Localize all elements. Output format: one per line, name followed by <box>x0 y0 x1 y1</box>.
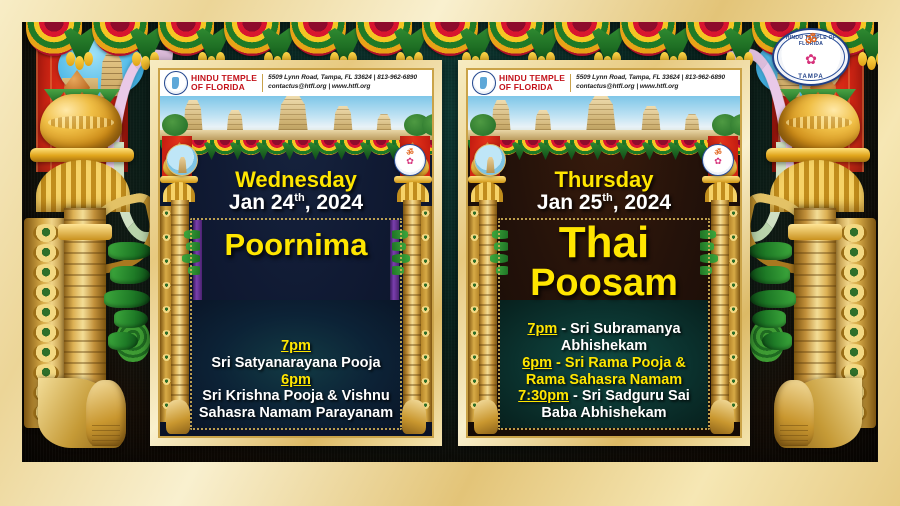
seal-city-text: TAMPA <box>774 74 848 80</box>
festival-name: Poornima <box>225 230 368 260</box>
schedule-text: Abhishekam <box>561 338 647 354</box>
card-text-block: Thursday Jan 25th, 2024 ThaiPoosam 7pm -… <box>468 164 740 436</box>
festival-name: ThaiPoosam <box>530 222 678 301</box>
schedule-row: 6pm <box>194 372 398 389</box>
card-inner: HINDU TEMPLE OF FLORIDA 5509 Lynn Road, … <box>158 68 434 438</box>
schedule-text: Baba Abhishekam <box>541 405 666 421</box>
letterhead-name-line2: OF FLORIDA <box>191 83 257 92</box>
card-text-block: Wednesday Jan 24th, 2024 Poornima 7pmSri… <box>160 164 432 436</box>
schedule-row: Sri Krishna Pooja & Vishnu <box>194 388 398 405</box>
schedule-row: Sri Satyanarayana Pooja <box>194 355 398 372</box>
festival-line1: Poornima <box>225 227 368 262</box>
schedule-text: Sri Sadguru Sai <box>582 388 690 404</box>
letterhead-email-website: contactus@htfl.org | www.htfl.org <box>268 83 417 92</box>
schedule-row: 7:30pm - Sri Sadguru Sai <box>502 388 706 405</box>
schedule-time: 7pm <box>281 338 311 354</box>
card-letterhead: HINDU TEMPLE OF FLORIDA 5509 Lynn Road, … <box>468 70 740 96</box>
date-ordinal-suffix: th <box>602 192 612 204</box>
schedule-row: 6pm - Sri Rama Pooja & <box>502 355 706 372</box>
letterhead-temple-name: HINDU TEMPLE OF FLORIDA <box>191 74 257 91</box>
lotus-icon: ✿ <box>805 52 817 66</box>
om-icon: ॐ <box>805 33 817 46</box>
letterhead-name-line2: OF FLORIDA <box>499 83 565 92</box>
card-inner: HINDU TEMPLE OF FLORIDA 5509 Lynn Road, … <box>466 68 742 438</box>
letterhead-divider <box>262 74 263 92</box>
letterhead-temple-name: HINDU TEMPLE OF FLORIDA <box>499 74 565 91</box>
temple-seal-icon: HINDU TEMPLE OF FLORIDA ॐ ✿ TAMPA <box>772 28 850 86</box>
cards-container: HINDU TEMPLE OF FLORIDA 5509 Lynn Road, … <box>22 22 878 462</box>
schedule-text: Sri Satyanarayana Pooja <box>211 355 380 371</box>
card-letterhead: HINDU TEMPLE OF FLORIDA 5509 Lynn Road, … <box>160 70 432 96</box>
schedule-text: Sri Rama Pooja & <box>565 355 686 371</box>
schedule-separator: - <box>569 388 582 404</box>
event-card-right: HINDU TEMPLE OF FLORIDA 5509 Lynn Road, … <box>458 60 750 446</box>
schedule-time: 6pm <box>281 372 311 388</box>
letterhead-address: 5509 Lynn Road, Tampa, FL 33624 | 813-96… <box>268 74 417 83</box>
schedule-text: Sri Subramanya <box>570 321 680 337</box>
schedule-separator: - <box>552 355 565 371</box>
schedule-text: Sri Krishna Pooja & Vishnu <box>202 388 389 404</box>
festival-line1: Thai <box>559 218 649 267</box>
letterhead-contact-block: 5509 Lynn Road, Tampa, FL 33624 | 813-96… <box>576 74 725 91</box>
event-date: Jan 24th, 2024 <box>229 191 363 214</box>
day-name: Thursday <box>554 168 653 191</box>
letterhead-email-website: contactus@htfl.org | www.htfl.org <box>576 83 725 92</box>
letterhead-divider <box>570 74 571 92</box>
schedule-text: Rama Sahasra Namam <box>526 372 682 388</box>
schedule-text: Sahasra Namam Parayanam <box>199 405 393 421</box>
schedule-list: 7pm - Sri SubramanyaAbhishekam6pm - Sri … <box>502 321 706 422</box>
artwork-panel: HINDU TEMPLE OF FLORIDA ॐ ✿ TAMPA HINDU … <box>22 22 878 462</box>
letterhead-seal-icon <box>472 71 496 95</box>
schedule-row: Abhishekam <box>502 338 706 355</box>
poster-stage: HINDU TEMPLE OF FLORIDA ॐ ✿ TAMPA HINDU … <box>0 0 900 506</box>
schedule-time: 7:30pm <box>518 388 569 404</box>
schedule-row: Rama Sahasra Namam <box>502 372 706 389</box>
date-ordinal-suffix: th <box>294 192 304 204</box>
letterhead-contact-block: 5509 Lynn Road, Tampa, FL 33624 | 813-96… <box>268 74 417 91</box>
festival-line2: Poosam <box>530 265 678 301</box>
letterhead-seal-icon <box>164 71 188 95</box>
event-date: Jan 25th, 2024 <box>537 191 671 214</box>
schedule-row: Baba Abhishekam <box>502 405 706 422</box>
schedule-separator: - <box>557 321 570 337</box>
day-name: Wednesday <box>235 168 357 191</box>
schedule-time: 7pm <box>527 321 557 337</box>
event-card-left: HINDU TEMPLE OF FLORIDA 5509 Lynn Road, … <box>150 60 442 446</box>
schedule-row: 7pm <box>194 338 398 355</box>
schedule-row: Sahasra Namam Parayanam <box>194 405 398 422</box>
schedule-list: 7pmSri Satyanarayana Pooja6pmSri Krishna… <box>194 338 398 422</box>
schedule-row: 7pm - Sri Subramanya <box>502 321 706 338</box>
schedule-time: 6pm <box>522 355 552 371</box>
letterhead-address: 5509 Lynn Road, Tampa, FL 33624 | 813-96… <box>576 74 725 83</box>
